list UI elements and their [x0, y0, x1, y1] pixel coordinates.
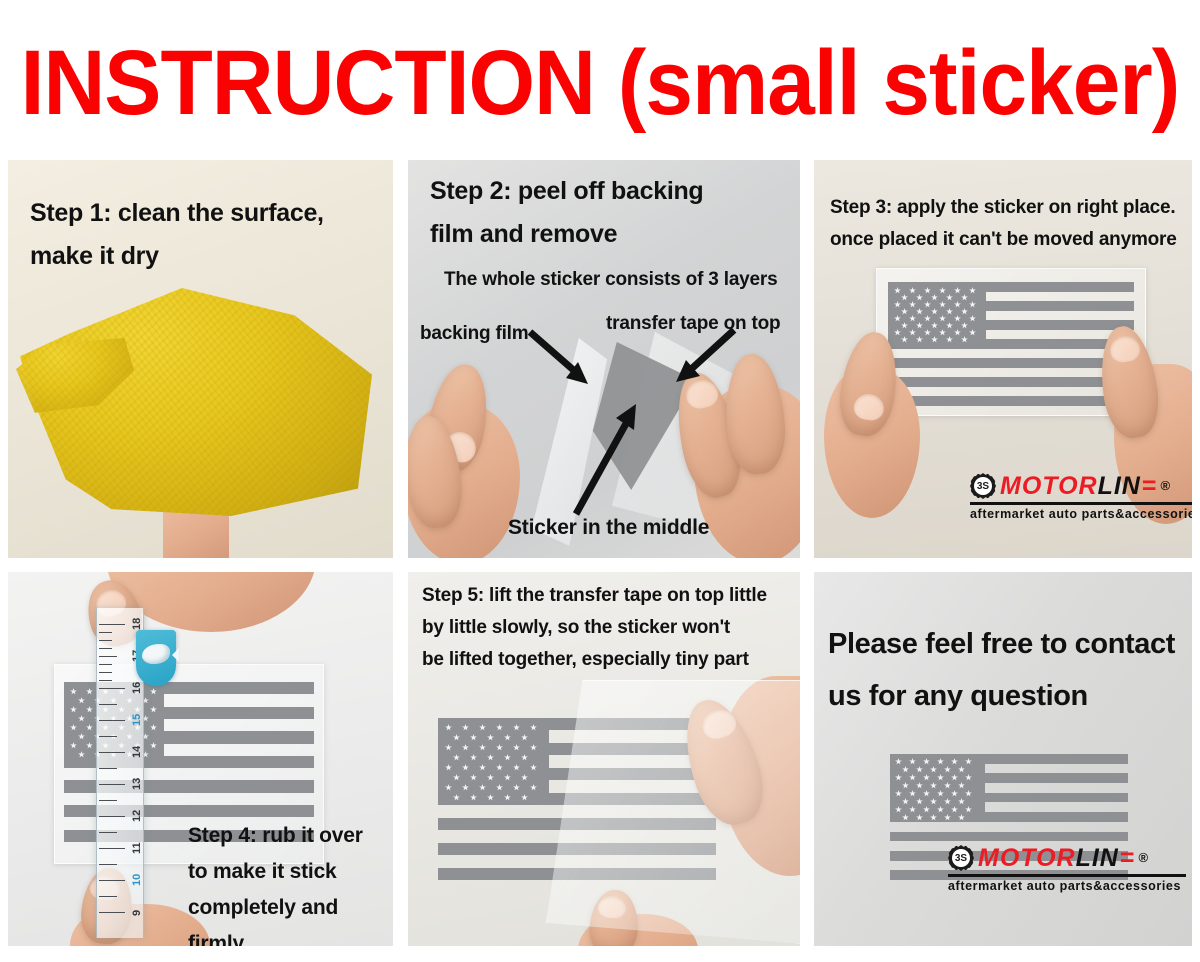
- motorline-logo-3: 3S MOTORLIN=® aftermarket auto parts&acc…: [970, 472, 1192, 521]
- brand-lin: LIN: [1098, 473, 1141, 499]
- gear-hub-text: 3S: [974, 477, 992, 495]
- ruler-mark-15: 15: [131, 714, 143, 726]
- fish-icon: [142, 644, 170, 664]
- panel-1-caption: Step 1: clean the surface, make it dry: [30, 192, 380, 278]
- brand-motor: MOTOR: [1000, 473, 1098, 499]
- brand-lin-6: LIN: [1076, 845, 1119, 871]
- panel-step-1: Step 1: clean the surface, make it dry: [8, 160, 393, 558]
- registered-mark: ®: [1160, 473, 1171, 499]
- gear-hub-text-6: 3S: [952, 849, 970, 867]
- panel-contact: Please feel free to contact us for any q…: [814, 572, 1192, 946]
- label-sticker-middle: Sticker in the middle: [508, 510, 709, 546]
- brand-motor-6: MOTOR: [978, 845, 1076, 871]
- brand-equals-6: =: [1120, 848, 1136, 868]
- flag-stars-6: [890, 754, 985, 822]
- page-title-text: INSTRUCTION (small sticker): [21, 33, 1180, 133]
- ruler-mark-12: 12: [131, 810, 143, 822]
- arrow-backing-film: [526, 328, 596, 390]
- logo-divider: [970, 502, 1192, 505]
- ruler-mark-11: 11: [131, 842, 143, 854]
- panel-step-2: Step 2: peel off backing film and remove…: [408, 160, 800, 558]
- panel-grid: Step 1: clean the surface, make it dry: [8, 160, 1192, 946]
- panel-2-caption: Step 2: peel off backing film and remove: [430, 170, 790, 256]
- arrow-sticker-middle: [564, 398, 648, 520]
- panel-4-caption: Step 4: rub it over to make it stick com…: [188, 818, 393, 946]
- label-backing-film: backing film: [420, 318, 528, 350]
- brand-wordmark: MOTORLIN=®: [1000, 473, 1171, 499]
- page-title: INSTRUCTION (small sticker): [0, 28, 1200, 138]
- brand-wordmark-6: MOTORLIN=®: [978, 845, 1149, 871]
- panel-6-caption: Please feel free to contact us for any q…: [828, 618, 1184, 722]
- ruler-mark-16: 16: [131, 682, 143, 694]
- logo-divider-6: [948, 874, 1186, 877]
- gear-icon: 3S: [970, 473, 996, 499]
- panel-3-caption: Step 3: apply the sticker on right place…: [830, 192, 1190, 256]
- motorline-logo-6: 3S MOTORLIN=® aftermarket auto parts&acc…: [948, 844, 1186, 893]
- ruler-mark-10: 10: [131, 874, 143, 886]
- logo-tagline-6: aftermarket auto parts&accessories: [948, 879, 1186, 893]
- panel-step-5: Step 5: lift the transfer tape on top li…: [408, 572, 800, 946]
- logo-tagline: aftermarket auto parts&accessories: [970, 507, 1192, 521]
- fish-sticker-tag: [136, 630, 176, 686]
- ruler-mark-13: 13: [131, 778, 143, 790]
- brand-equals: =: [1142, 476, 1158, 496]
- label-transfer-tape: transfer tape on top: [606, 308, 780, 340]
- registered-mark-6: ®: [1138, 845, 1149, 871]
- panel-step-3: Step 3: apply the sticker on right place…: [814, 160, 1192, 558]
- ruler-mark-14: 14: [131, 746, 143, 758]
- lifted-transfer-tape: [546, 680, 800, 944]
- panel-5-caption: Step 5: lift the transfer tape on top li…: [422, 580, 794, 676]
- panel-2-subcaption: The whole sticker consists of 3 layers: [444, 264, 794, 296]
- instruction-sheet: INSTRUCTION (small sticker) Step 1: clea…: [0, 0, 1200, 962]
- flag-stars-5: [438, 718, 549, 805]
- panel-step-4: 18 17 16 15 14 13 12 11 10 9: [8, 572, 393, 946]
- ruler-mark-9: 9: [131, 910, 143, 916]
- ruler-mark-18: 18: [131, 618, 143, 630]
- flag-stars: [888, 282, 986, 349]
- gear-icon-6: 3S: [948, 845, 974, 871]
- us-flag-decal-3: [888, 282, 1134, 406]
